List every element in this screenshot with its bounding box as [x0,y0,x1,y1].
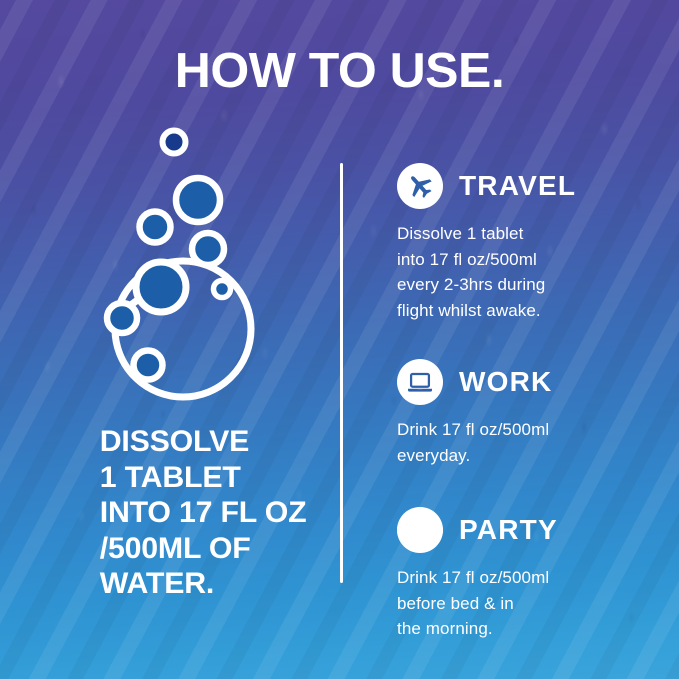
airplane-icon [397,163,443,209]
section-work: WORK Drink 17 fl oz/500ml everyday. [397,358,659,468]
spacer [397,323,659,358]
headline-line: WATER. [100,566,353,602]
section-work-header: WORK [397,358,659,405]
body-line: Drink 17 fl oz/500ml [397,565,659,591]
left-headline: DISSOLVE 1 TABLET INTO 17 FL OZ /500ML O… [100,424,353,602]
party-person-icon [397,507,443,553]
section-party-body: Drink 17 fl oz/500ml before bed & in the… [397,565,659,642]
headline-line: DISSOLVE [100,424,353,460]
how-to-use-infographic: HOW TO USE. DISSOLVE [0,0,679,679]
headline-line: /500ML OF [100,531,353,567]
section-work-body: Drink 17 fl oz/500ml everyday. [397,417,659,468]
section-travel-body: Dissolve 1 tablet into 17 fl oz/500ml ev… [397,221,659,323]
instructions-column: TRAVEL Dissolve 1 tablet into 17 fl oz/5… [397,162,659,642]
dissolving-tablet-bubbles-graphic [96,122,276,407]
body-line: into 17 fl oz/500ml [397,247,659,273]
body-line: every 2-3hrs during [397,272,659,298]
body-line: before bed & in [397,591,659,617]
spacer [397,468,659,506]
body-line: Drink 17 fl oz/500ml [397,417,659,443]
laptop-icon [397,359,443,405]
section-party-title: PARTY [459,516,558,544]
headline-line: 1 TABLET [100,460,353,496]
section-travel: TRAVEL Dissolve 1 tablet into 17 fl oz/5… [397,162,659,323]
body-line: the morning. [397,616,659,642]
headline-line: INTO 17 FL OZ [100,495,353,531]
body-line: everyday. [397,443,659,469]
section-travel-title: TRAVEL [459,172,576,200]
section-party-header: PARTY [397,506,659,553]
body-line: Dissolve 1 tablet [397,221,659,247]
section-travel-header: TRAVEL [397,162,659,209]
section-party: PARTY Drink 17 fl oz/500ml before bed & … [397,506,659,642]
page-title: HOW TO USE. [0,47,679,96]
section-work-title: WORK [459,368,552,396]
body-line: flight whilst awake. [397,298,659,324]
